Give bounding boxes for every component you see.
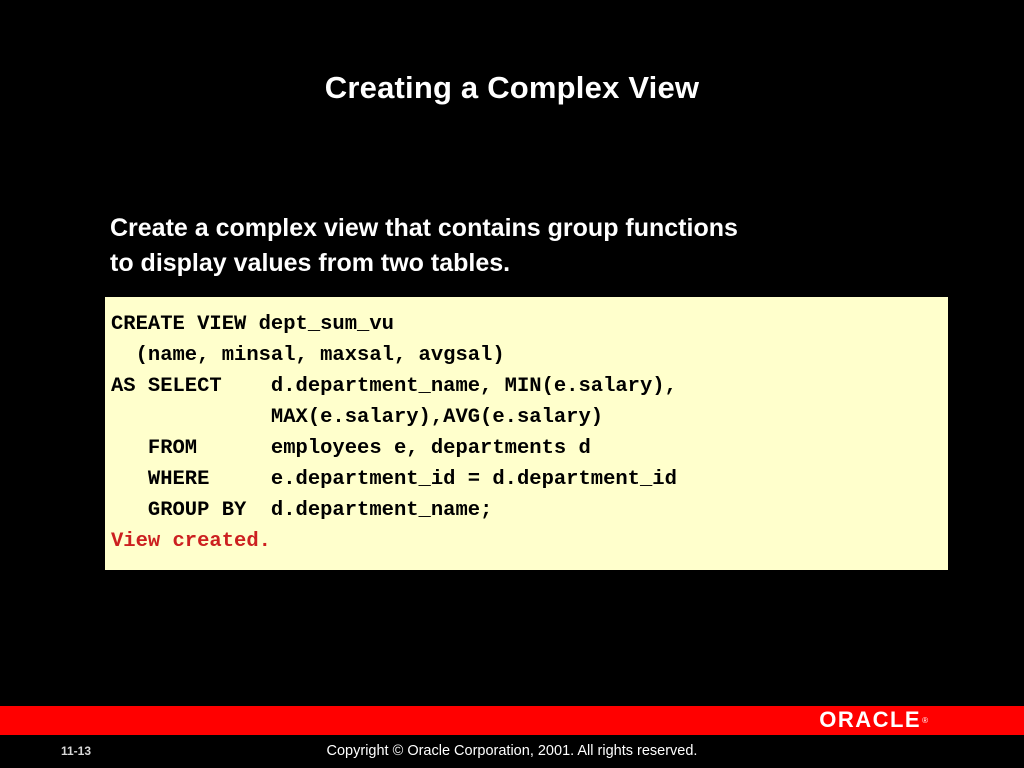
page-title: Creating a Complex View [0,70,1024,106]
copyright-notice: Copyright © Oracle Corporation, 2001. Al… [0,743,1024,759]
oracle-logo: ORACLE ® [819,707,928,733]
slide-subtitle: Create a complex view that contains grou… [110,211,940,281]
code-line-1: CREATE VIEW dept_sum_vu [111,309,948,340]
sql-code-block: CREATE VIEW dept_sum_vu (name, minsal, m… [105,297,948,570]
registered-trademark-icon: ® [922,716,928,725]
subtitle-line-1: Create a complex view that contains grou… [110,211,940,246]
code-line-2: (name, minsal, maxsal, avgsal) [111,340,948,371]
code-line-4: MAX(e.salary),AVG(e.salary) [111,402,948,433]
oracle-logo-text: ORACLE [819,707,921,733]
slide-canvas: Creating a Complex View Create a complex… [0,0,1024,768]
subtitle-line-2: to display values from two tables. [110,246,940,281]
code-line-6: WHERE e.department_id = d.department_id [111,464,948,495]
code-line-7: GROUP BY d.department_name; [111,495,948,526]
code-line-5: FROM employees e, departments d [111,433,948,464]
code-result-message: View created. [111,526,948,557]
code-line-3: AS SELECT d.department_name, MIN(e.salar… [111,371,948,402]
